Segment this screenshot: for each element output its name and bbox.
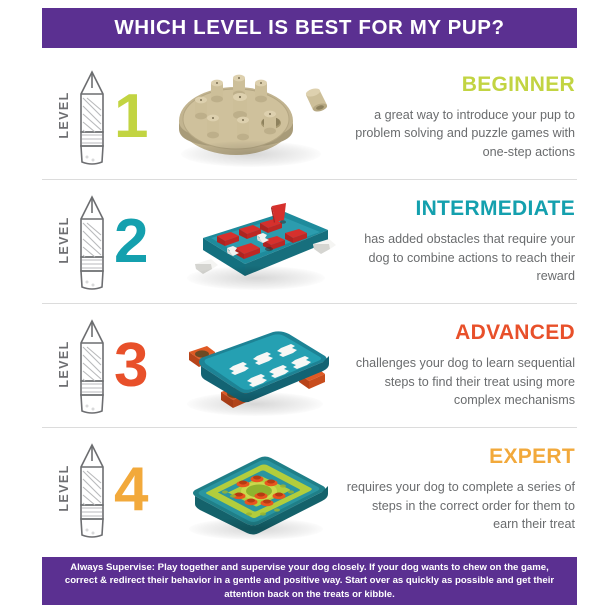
level-word-label: LEVEL <box>57 209 71 271</box>
level-number: 4 <box>114 459 148 521</box>
levels-list: LEVEL <box>42 55 577 551</box>
supervision-notice: Always Supervise: Play together and supe… <box>56 561 563 602</box>
level-badge-3: LEVEL <box>42 311 170 421</box>
level-name: BEGINNER <box>345 73 575 97</box>
footer-banner: Always Supervise: Play together and supe… <box>42 557 577 605</box>
level-row: LEVEL <box>42 55 577 179</box>
pencil-icon <box>75 317 109 422</box>
level-badge-2: LEVEL <box>42 187 170 297</box>
level-word-label: LEVEL <box>57 333 71 395</box>
level-description: has added obstacles that require your do… <box>345 230 575 286</box>
level-copy-expert: EXPERT requires your dog to complete a s… <box>345 445 577 534</box>
infographic-page: WHICH LEVEL IS BEST FOR MY PUP? LEVEL <box>0 0 612 612</box>
level-word-label: LEVEL <box>57 84 71 146</box>
product-image-expert <box>170 431 345 549</box>
pencil-icon <box>75 193 109 298</box>
header-banner: WHICH LEVEL IS BEST FOR MY PUP? <box>42 8 577 48</box>
level-row: LEVEL <box>42 179 577 303</box>
page-title: WHICH LEVEL IS BEST FOR MY PUP? <box>114 16 504 40</box>
level-copy-advanced: ADVANCED challenges your dog to learn se… <box>345 321 577 410</box>
product-image-advanced <box>170 307 345 425</box>
level-copy-beginner: BEGINNER a great way to introduce your p… <box>345 73 577 162</box>
level-name: INTERMEDIATE <box>345 197 575 221</box>
pencil-icon <box>75 441 109 546</box>
pencil-icon <box>75 68 109 173</box>
level-badge-1: LEVEL <box>42 62 170 172</box>
level-number: 3 <box>114 335 148 397</box>
level-description: requires your dog to complete a series o… <box>345 478 575 534</box>
level-row: LEVEL <box>42 303 577 427</box>
level-number: 1 <box>114 86 148 148</box>
level-number: 2 <box>114 211 148 273</box>
product-image-intermediate <box>170 183 345 301</box>
level-name: ADVANCED <box>345 321 575 345</box>
level-word-label: LEVEL <box>57 457 71 519</box>
level-description: a great way to introduce your pup to pro… <box>345 106 575 162</box>
level-description: challenges your dog to learn sequential … <box>345 354 575 410</box>
level-copy-intermediate: INTERMEDIATE has added obstacles that re… <box>345 197 577 286</box>
level-badge-4: LEVEL <box>42 435 170 545</box>
level-row: LEVEL <box>42 427 577 551</box>
product-image-beginner <box>170 58 345 176</box>
level-name: EXPERT <box>345 445 575 469</box>
